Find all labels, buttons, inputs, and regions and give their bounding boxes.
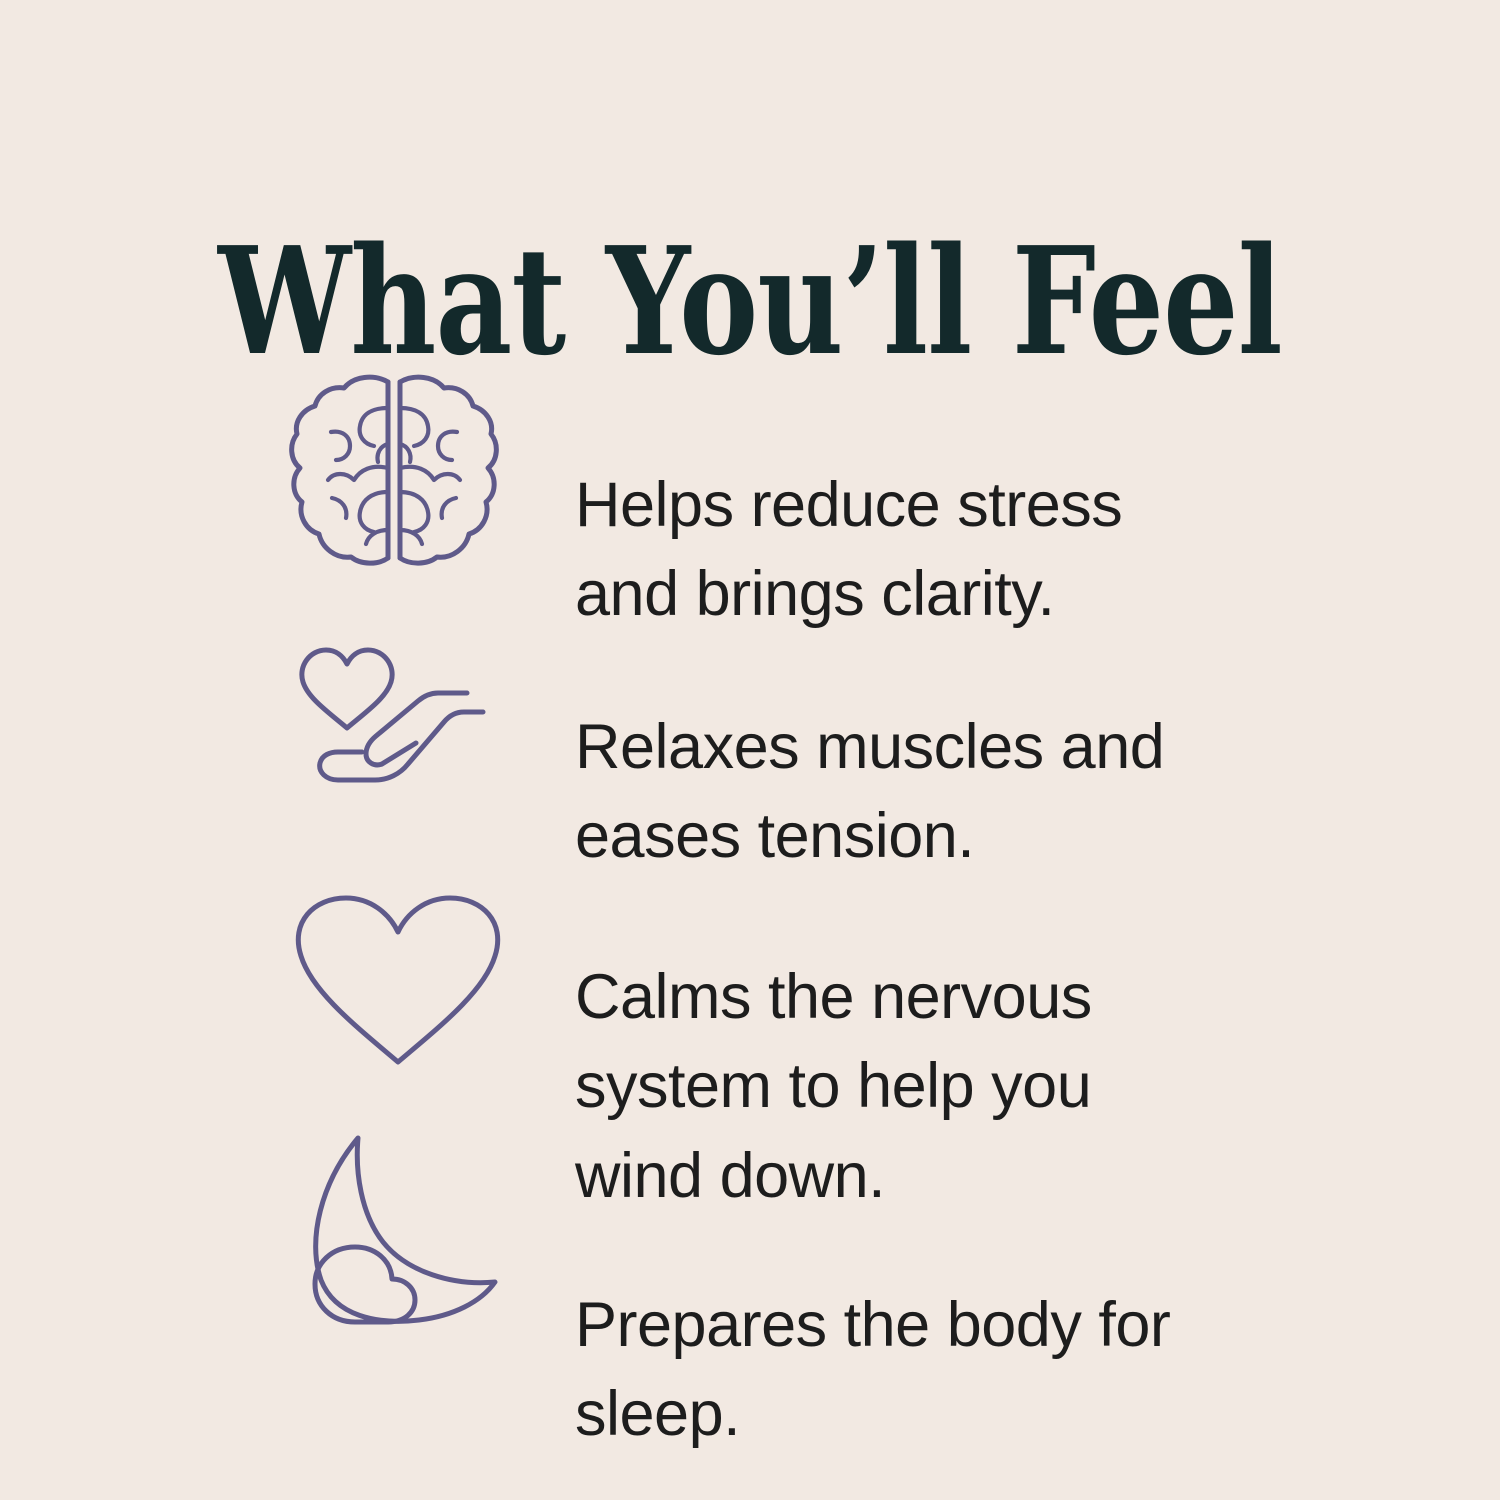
benefit-text: Relaxes muscles and eases tension. [575,703,1275,882]
benefit-text: Prepares the body for sleep. [575,1281,1295,1460]
brain-icon [288,372,500,568]
what-youll-feel-panel: What You’ll Feel [0,0,1500,1500]
benefit-text: Helps reduce stress and brings clarity. [575,461,1275,640]
heart-in-hand-icon [292,640,506,812]
heart-icon [292,892,504,1068]
benefit-text: Calms the nervous system to help you win… [575,953,1215,1221]
benefits-list: Helps reduce stress and brings clarity. … [0,0,1500,1500]
moon-cloud-icon [285,1130,503,1330]
